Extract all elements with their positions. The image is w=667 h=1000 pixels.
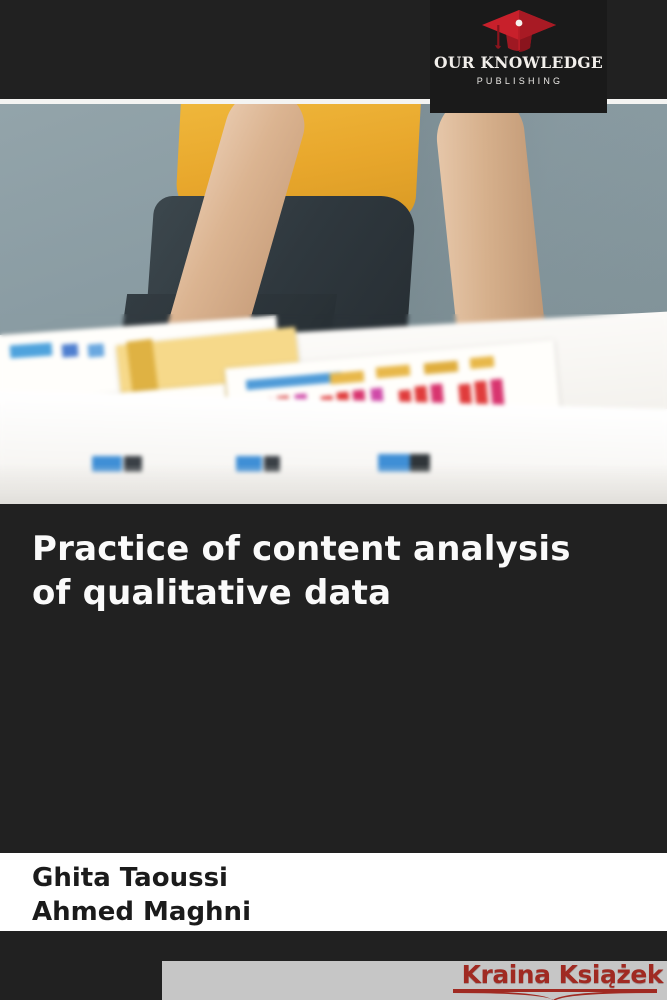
book-cover: OUR KNOWLEDGE PUBLISHING: [0, 0, 667, 1000]
author-name: Ghita Taoussi: [32, 861, 592, 895]
photo-chart-bar: [88, 343, 105, 357]
photo-chart-bar: [470, 356, 495, 369]
cover-photo: [0, 104, 667, 504]
publisher-logo-panel: OUR KNOWLEDGE PUBLISHING: [430, 0, 607, 113]
author-name: Ahmed Maghni: [32, 895, 592, 929]
photo-bottom-fade: [0, 464, 667, 504]
graduation-cap-icon: [480, 6, 558, 56]
watermark: Kraina Książek: [445, 962, 665, 1000]
photo-chart-bar: [62, 343, 79, 357]
publisher-subtitle: PUBLISHING: [474, 77, 564, 86]
publisher-name: OUR KNOWLEDGE: [434, 55, 603, 71]
author-list: Ghita Taoussi Ahmed Maghni: [32, 861, 592, 929]
page-title: Practice of content analysis of qualitat…: [32, 527, 592, 615]
